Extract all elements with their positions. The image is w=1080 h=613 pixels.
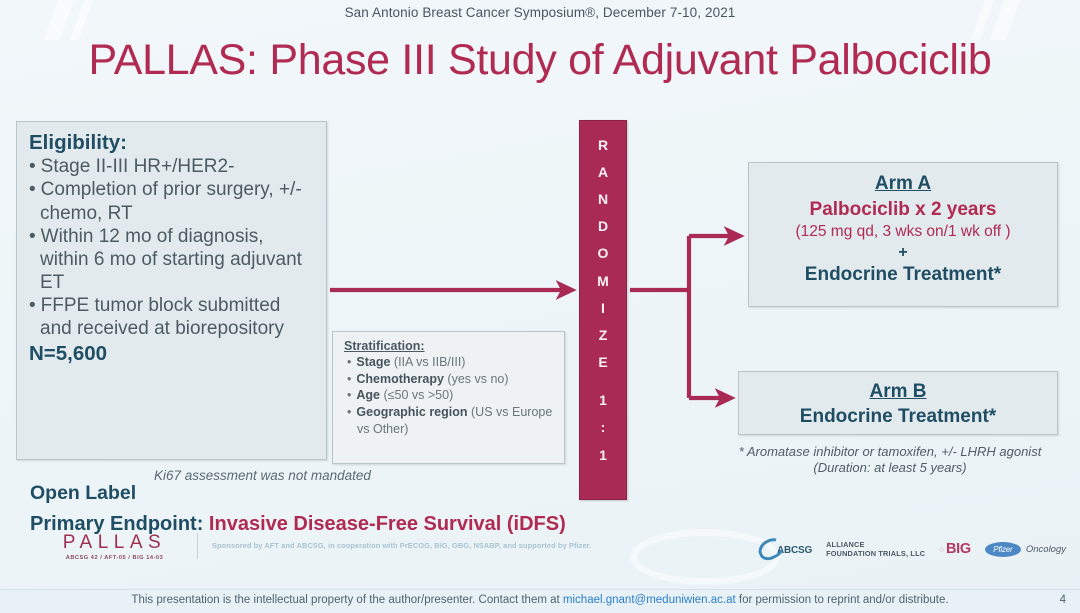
- randomize-letter: M: [597, 267, 609, 294]
- symposium-header: San Antonio Breast Cancer Symposium®, De…: [0, 5, 1080, 20]
- slide-canvas: San Antonio Breast Cancer Symposium®, De…: [0, 0, 1080, 613]
- arm-b-endocrine: Endocrine Treatment*: [739, 405, 1057, 429]
- alliance-logo-line-1: ALLIANCE: [826, 540, 865, 549]
- list-item: Age (≤50 vs >50): [344, 387, 555, 404]
- big-logo-text: BIG: [946, 541, 971, 557]
- randomize-letter: D: [598, 213, 608, 240]
- list-item: Chemotherapy (yes vs no): [344, 371, 555, 388]
- alliance-foundation-trials-logo: ALLIANCE FOUNDATION TRIALS, LLC: [826, 540, 925, 558]
- strat-factor: Age: [356, 388, 380, 402]
- pallas-logo: PALLAS ABCSG 42 / AFT-05 / BIG 14-03: [42, 533, 187, 561]
- arm-b-panel: Arm B Endocrine Treatment*: [738, 371, 1058, 435]
- big-logo: ◌ BIG: [939, 541, 971, 557]
- randomize-letter: N: [598, 185, 608, 212]
- arm-a-plus-sign: +: [749, 242, 1057, 264]
- list-item: Within 12 mo of diagnosis, within 6 mo o…: [29, 225, 316, 294]
- arm-a-dose: (125 mg qd, 3 wks on/1 wk off ): [749, 222, 1057, 242]
- randomize-letter: O: [598, 240, 609, 267]
- enrollment-count: N=5,600: [29, 342, 316, 366]
- strat-levels: (yes vs no): [447, 372, 508, 386]
- randomize-letter: I: [601, 294, 605, 321]
- slide-number: 4: [1060, 594, 1066, 606]
- strat-levels: (IIA vs IIB/III): [394, 355, 466, 369]
- ki67-note: Ki67 assessment was not mandated: [154, 468, 371, 483]
- alliance-logo-line-2: FOUNDATION TRIALS, LLC: [826, 549, 925, 558]
- arms-footnote: * Aromatase inhibitor or tamoxifen, +/- …: [700, 444, 1080, 477]
- list-item: Stage (IIA vs IIB/III): [344, 354, 555, 371]
- arm-a-endocrine: Endocrine Treatment*: [749, 263, 1057, 287]
- pfizer-oncology-logo: Pfizer Oncology: [985, 542, 1066, 557]
- copyright-bar: This presentation is the intellectual pr…: [0, 589, 1080, 613]
- abcsg-logo: ABCSG: [758, 539, 812, 559]
- footnote-line-1: * Aromatase inhibitor or tamoxifen, +/- …: [700, 444, 1080, 460]
- strat-levels: (≤50 vs >50): [384, 388, 454, 402]
- page-title: PALLAS: Phase III Study of Adjuvant Palb…: [0, 36, 1080, 85]
- stratification-title: Stratification:: [344, 339, 555, 353]
- randomize-ratio-char: 1: [599, 387, 607, 414]
- copyright-text: This presentation is the intellectual pr…: [0, 594, 1080, 606]
- oncology-logo-text: Oncology: [1026, 544, 1066, 555]
- arm-a-drug: Palbociclib x 2 years: [749, 198, 1057, 222]
- big-globe-icon: ◌: [939, 545, 944, 554]
- stratification-panel: Stratification: Stage (IIA vs IIB/III) C…: [332, 331, 565, 464]
- randomize-letter: A: [598, 158, 608, 185]
- strat-factor: Stage: [356, 355, 390, 369]
- list-item: Completion of prior surgery, +/- chemo, …: [29, 178, 316, 224]
- footer-band: PALLAS ABCSG 42 / AFT-05 / BIG 14-03 Spo…: [0, 549, 1080, 589]
- footnote-line-2: (Duration: at least 5 years): [700, 460, 1080, 476]
- strat-factor: Chemotherapy: [356, 372, 444, 386]
- randomize-letter: E: [598, 349, 607, 376]
- copyright-suffix: for permission to reprint and/or distrib…: [736, 594, 949, 606]
- list-item: Geographic region (US vs Europe vs Other…: [344, 404, 555, 437]
- randomize-ratio-char: 1: [599, 441, 607, 468]
- list-item: Stage II-III HR+/HER2-: [29, 155, 316, 178]
- list-item: FFPE tumor block submitted and received …: [29, 294, 316, 340]
- randomize-bar: R A N D O M I Z E 1 : 1: [579, 120, 627, 500]
- pallas-logo-word: PALLAS: [42, 533, 187, 552]
- arm-a-panel: Arm A Palbociclib x 2 years (125 mg qd, …: [748, 162, 1058, 307]
- copyright-prefix: This presentation is the intellectual pr…: [131, 594, 563, 606]
- open-label-note: Open Label: [30, 482, 136, 505]
- eligibility-title: Eligibility:: [29, 130, 316, 155]
- sponsor-line: Sponsored by AFT and ABCSG, in cooperati…: [212, 541, 732, 550]
- strat-factor: Geographic region: [356, 405, 467, 419]
- abcsg-swirl-icon: [755, 534, 787, 564]
- arm-b-heading: Arm B: [739, 381, 1057, 404]
- sponsor-logo-row: ABCSG ALLIANCE FOUNDATION TRIALS, LLC ◌ …: [758, 539, 1066, 559]
- eligibility-criteria-list: Stage II-III HR+/HER2- Completion of pri…: [29, 155, 316, 340]
- primary-endpoint-value: Invasive Disease-Free Survival (iDFS): [209, 513, 566, 535]
- pallas-logo-subtitle: ABCSG 42 / AFT-05 / BIG 14-03: [42, 555, 187, 561]
- footer-divider: [197, 533, 198, 559]
- arm-a-heading: Arm A: [749, 173, 1057, 196]
- randomize-ratio-char: :: [601, 414, 606, 441]
- randomize-letter: R: [598, 131, 608, 158]
- presenter-email-link[interactable]: michael.gnant@meduniwien.ac.at: [563, 594, 736, 606]
- stratification-factor-list: Stage (IIA vs IIB/III) Chemotherapy (yes…: [344, 354, 555, 437]
- randomize-letter: Z: [599, 321, 608, 348]
- pfizer-logo-text: Pfizer: [985, 542, 1021, 557]
- eligibility-panel: Eligibility: Stage II-III HR+/HER2- Comp…: [16, 121, 327, 460]
